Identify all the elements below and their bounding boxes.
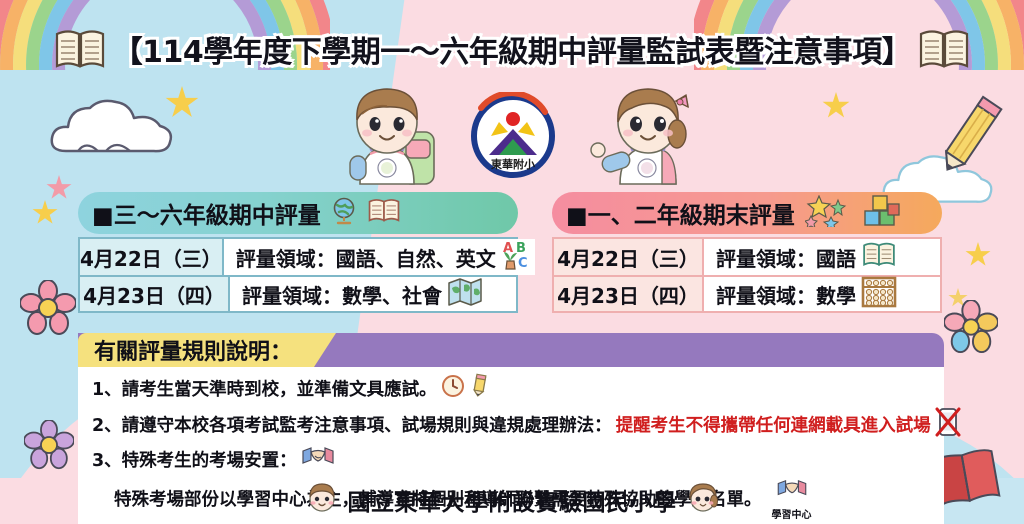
poster-footer: 國立東華大學附設實驗國民小學	[0, 481, 1024, 518]
globe-icon	[331, 197, 357, 230]
table-row: 4月22日（三） 評量領域：國語	[552, 237, 942, 275]
rule-item-2: 2、請遵守本校各項考試監考注意事項、試場規則與違規處理辦法： 提醒考生不得攜帶任…	[92, 407, 932, 446]
table-right-subjects-1: 評量領域：數學	[716, 280, 856, 309]
svg-text:B: B	[516, 241, 526, 256]
building-blocks-icon	[861, 194, 901, 233]
pencil-icon	[469, 374, 491, 407]
boy-with-backpack-illustration	[322, 84, 452, 190]
table-grades-1-2: ■一、二年級期末評量 4月22日（三）	[552, 192, 942, 313]
abc-plant-icon: A B C	[501, 239, 535, 276]
rules-header-tab: 有關評量規則說明：	[78, 333, 314, 367]
clock-icon	[441, 374, 465, 407]
table-left-header-label: ■三～六年級期中評量	[92, 196, 321, 230]
stars-icon	[805, 195, 851, 232]
flower-icon-left-1	[20, 280, 76, 341]
cloud-icon-left	[48, 96, 178, 163]
flower-icon-right-1	[944, 300, 998, 359]
rule-item-1-text: 1、請考生當天準時到校，並準備文具應試。	[92, 377, 437, 404]
no-phone-icon	[935, 407, 961, 446]
rules-header-band: 有關評量規則說明：	[78, 333, 944, 367]
table-row: 4月23日（四） 評量領域：數學、社會	[78, 275, 518, 313]
rule-item-1: 1、請考生當天準時到校，並準備文具應試。	[92, 374, 932, 407]
rule-item-2-text: 2、請遵守本校各項考試監考注意事項、試場規則與違規處理辦法：	[92, 413, 612, 440]
table-right-subjects-0: 評量領域：國語	[716, 243, 856, 272]
girl-waving-illustration	[584, 84, 714, 190]
table-right-header: ■一、二年級期末評量	[552, 192, 942, 234]
open-book-icon-title-right	[917, 26, 971, 72]
table-right-date-1: 4月23日（四）	[554, 277, 704, 311]
table-left-subjects-1: 評量領域：數學、社會	[242, 280, 442, 309]
open-book-icon-right-row-0	[861, 241, 897, 274]
boy-face-icon	[306, 481, 338, 518]
rules-header-label: 有關評量規則說明：	[94, 334, 292, 366]
table-right-date-0: 4月22日（三）	[554, 239, 704, 275]
school-logo-text: 東華附小	[491, 157, 535, 171]
table-grades-3-6: ■三～六年級期中評量	[78, 192, 518, 313]
poster-canvas: 【114學年度下學期一～六年級期中評量監試表暨注意事項】	[0, 0, 1024, 524]
rule-item-3: 3、特殊考生的考場安置：	[92, 445, 932, 478]
abacus-icon	[861, 276, 897, 313]
table-left-header: ■三～六年級期中評量	[78, 192, 518, 234]
school-logo: 東華附小	[465, 92, 561, 180]
world-map-icon	[447, 277, 483, 312]
table-right-header-label: ■一、二年級期末評量	[566, 196, 795, 230]
table-right-cell-1: 評量領域：數學	[704, 277, 940, 311]
svg-text:C: C	[518, 256, 528, 271]
handshake-icon	[301, 445, 335, 478]
table-row: 4月22日（三） 評量領域：國語、自然、英文 A B C	[78, 237, 518, 275]
open-book-icon-title-left	[53, 26, 107, 72]
rule-item-2-warning: 提醒考生不得攜帶任何連網載具進入試場	[616, 413, 931, 440]
open-book-icon-left-header	[367, 197, 401, 230]
table-left-date-1: 4月23日（四）	[80, 277, 230, 311]
rule-item-3-text: 3、特殊考生的考場安置：	[92, 448, 297, 475]
girl-face-icon	[687, 481, 719, 518]
table-left-cell-1: 評量領域：數學、社會	[230, 277, 516, 311]
footer-school-name: 國立東華大學附設實驗國民小學	[348, 483, 677, 517]
svg-text:A: A	[503, 241, 513, 256]
table-left-cell-0: 評量領域：國語、自然、英文 A B C	[224, 239, 535, 275]
table-right-cell-0: 評量領域：國語	[704, 239, 940, 275]
table-left-subjects-0: 評量領域：國語、自然、英文	[236, 243, 496, 272]
page-title: 【114學年度下學期一～六年級期中評量監試表暨注意事項】	[113, 27, 912, 71]
table-left-rows: 4月22日（三） 評量領域：國語、自然、英文 A B C 4	[78, 237, 518, 313]
poster-title-row: 【114學年度下學期一～六年級期中評量監試表暨注意事項】	[0, 26, 1024, 72]
table-right-rows: 4月22日（三） 評量領域：國語	[552, 237, 942, 313]
table-row: 4月23日（四） 評量領域：數學	[552, 275, 942, 313]
table-left-date-0: 4月22日（三）	[80, 239, 224, 275]
flower-icon-left-2	[24, 420, 74, 475]
